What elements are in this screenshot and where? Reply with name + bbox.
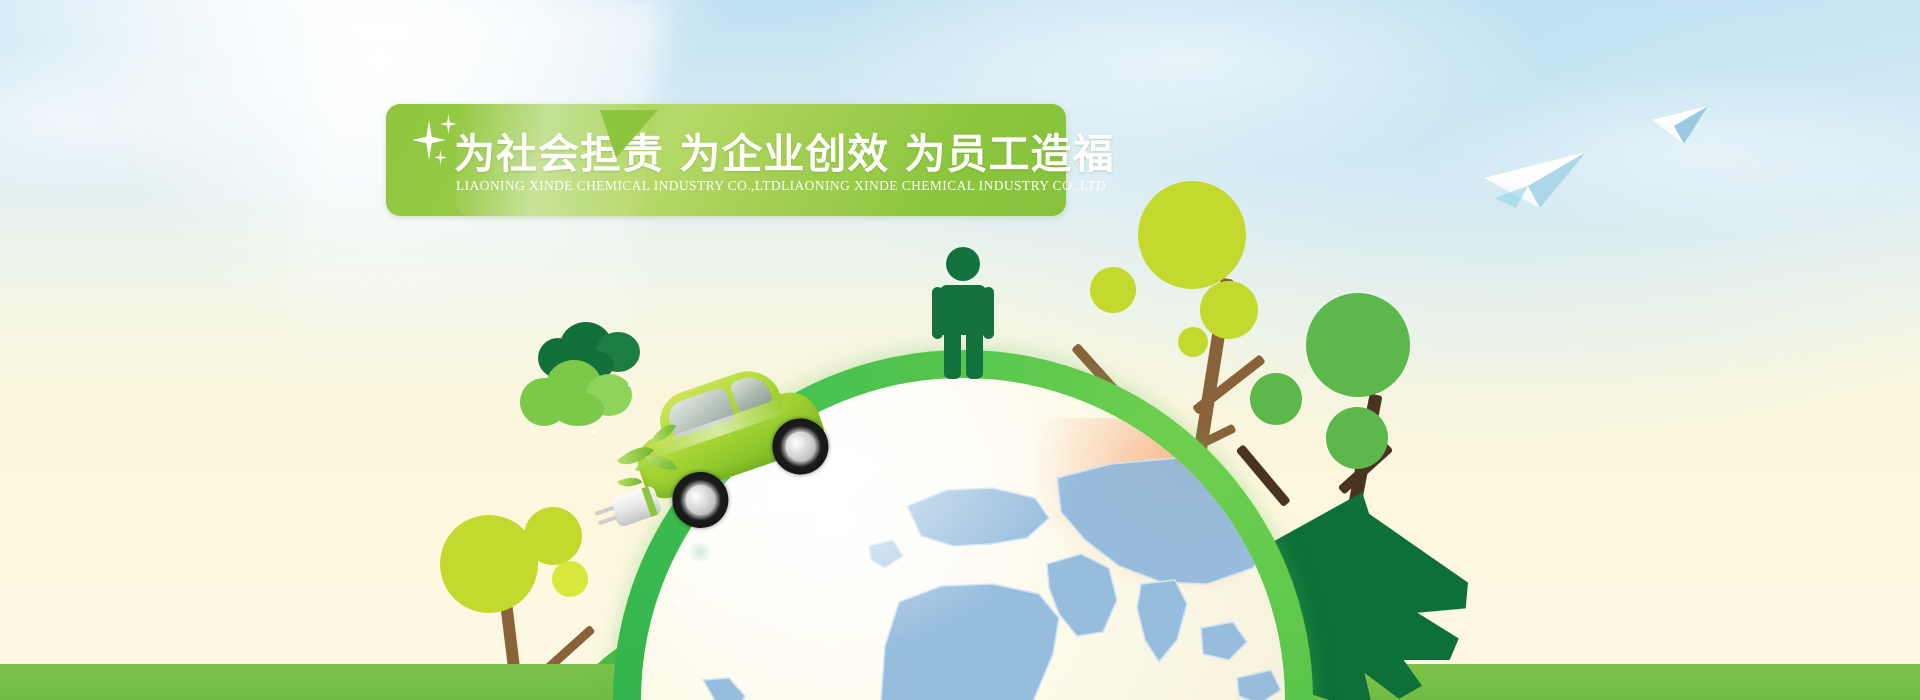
person-leg-right <box>966 327 983 379</box>
sparkle-dot <box>716 592 722 598</box>
person-head <box>946 247 980 281</box>
sparkle-dot <box>628 382 633 387</box>
person-arm-left <box>932 287 943 339</box>
paper-plane-small-icon <box>1650 104 1712 146</box>
speech-bubble-tail-icon <box>600 110 658 158</box>
banner-title: 为社会担责 为企业创效 为员工造福 <box>454 120 1115 180</box>
banner-subtitle: LIAONING XINDE CHEMICAL INDUSTRY CO.,LTD… <box>456 178 1106 194</box>
sparkle-dot <box>676 600 681 605</box>
standing-person-figure <box>920 247 1006 379</box>
person-arm-right <box>983 287 994 339</box>
eco-corporate-banner: 为社会担责 为企业创效 为员工造福 LIAONING XINDE CHEMICA… <box>0 0 1920 700</box>
sparkle-dot <box>592 430 596 434</box>
person-leg-left <box>944 327 961 379</box>
headline-speech-bubble: 为社会担责 为企业创效 为员工造福 LIAONING XINDE CHEMICA… <box>386 104 1066 216</box>
paper-plane-large-icon <box>1482 146 1592 210</box>
